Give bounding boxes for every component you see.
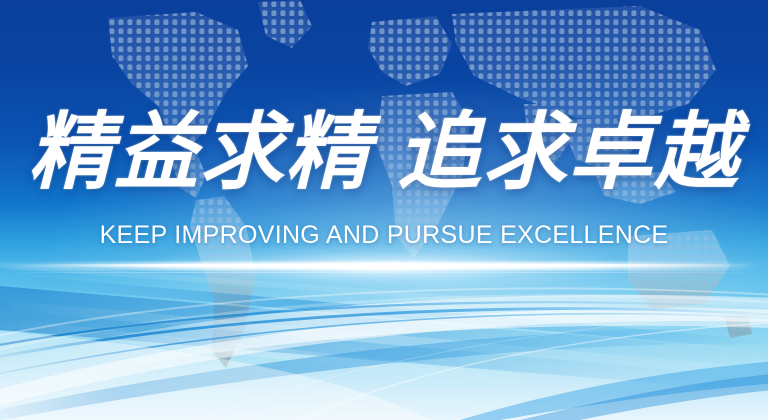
- sweeping-arc-ribbons: [0, 0, 768, 420]
- subtitle-english: KEEP IMPROVING AND PURSUE EXCELLENCE: [0, 222, 768, 248]
- headline-chinese: 精益求精 追求卓越: [0, 98, 768, 206]
- headline-part-one: 精益求精: [28, 110, 371, 194]
- headline-part-two: 追求卓越: [397, 110, 740, 194]
- banner-canvas: 精益求精 追求卓越 KEEP IMPROVING AND PURSUE EXCE…: [0, 0, 768, 420]
